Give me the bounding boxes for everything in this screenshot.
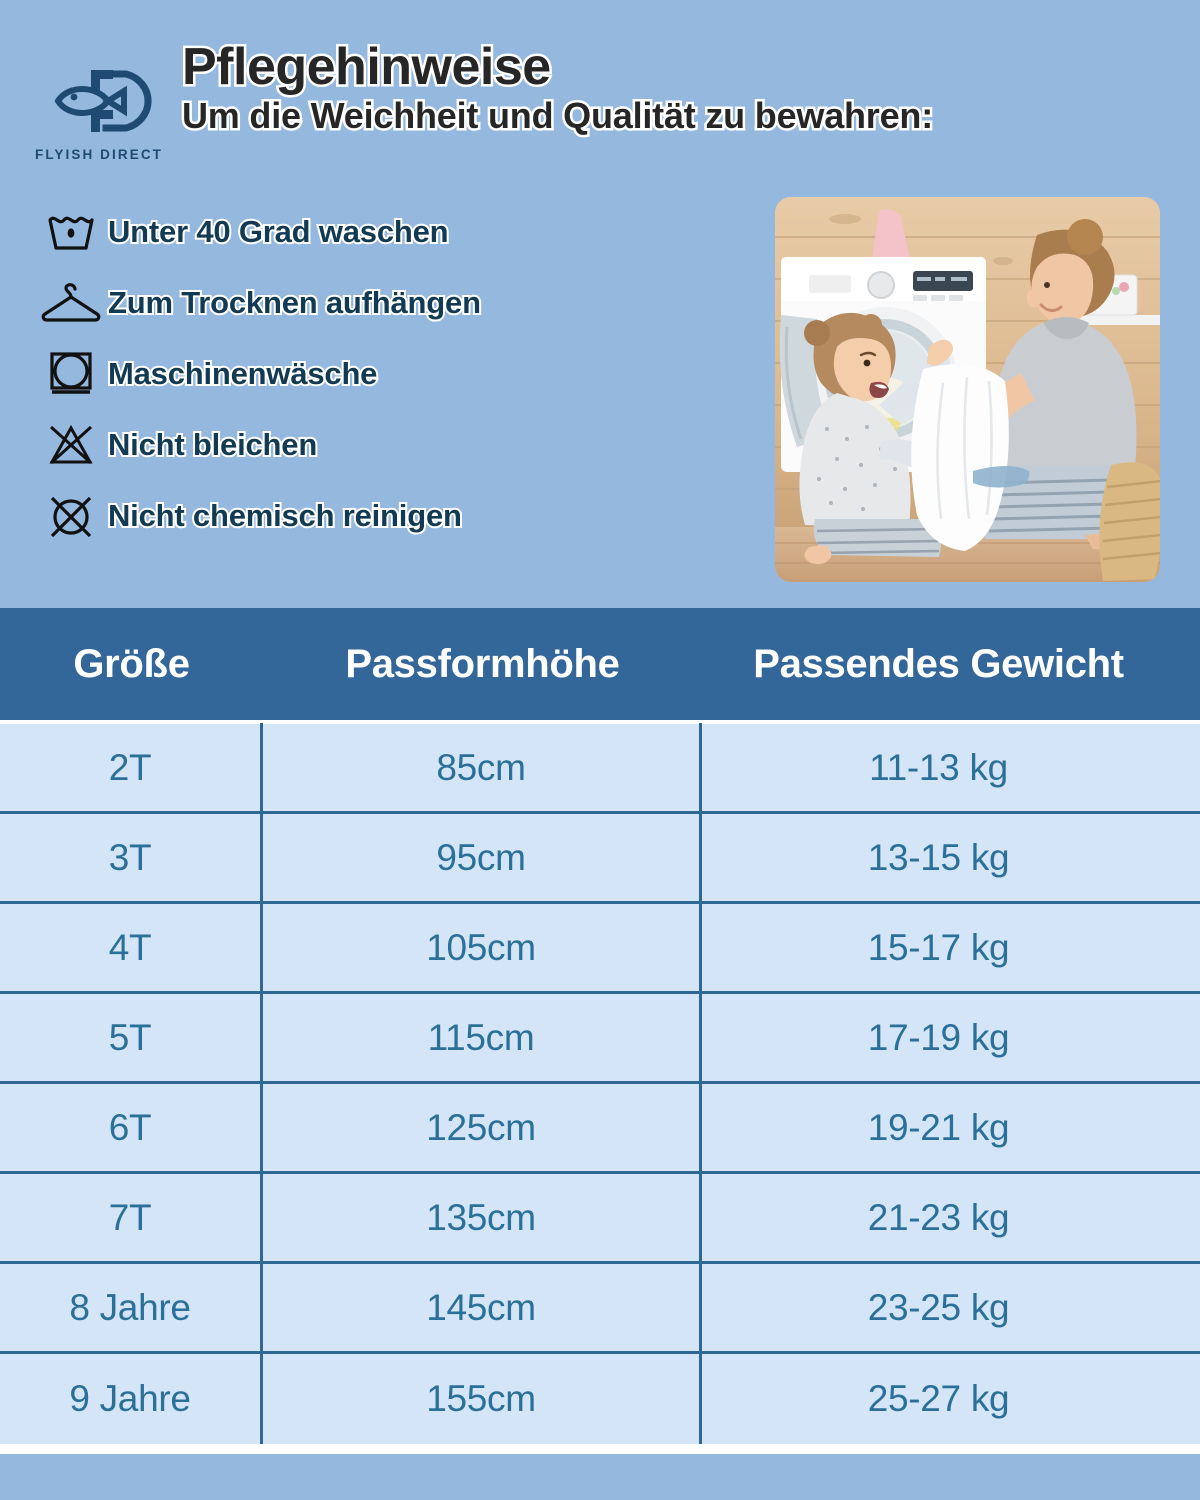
cell-size: 8 Jahre [0,1263,263,1353]
brand-logo: FLYISH DIRECT [24,64,174,162]
machine-wash-icon [34,349,108,399]
do-not-dry-clean-icon [34,491,108,541]
care-item-label: Maschinenwäsche [108,356,377,392]
page-title: Pflegehinweise [182,40,1192,94]
care-item-label: Nicht bleichen [108,427,317,463]
cell-weight: 11-13 kg [702,723,1175,813]
cell-size: 7T [0,1173,263,1263]
cell-size: 5T [0,993,263,1083]
care-instructions-section: FLYISH DIRECT Pflegehinweise Um die Weic… [0,0,1200,603]
cell-height: 115cm [263,993,702,1083]
table-body: 2T 85cm 11-13 kg 3T 95cm 13-15 kg 4T 105… [0,720,1200,1444]
table-header-row: Größe Passformhöhe Passendes Gewicht [0,608,1200,720]
table-row: 7T 135cm 21-23 kg [0,1174,1200,1264]
cell-size: 3T [0,813,263,903]
bottom-background-strip [0,1455,1200,1500]
size-chart-table: Größe Passformhöhe Passendes Gewicht 2T … [0,608,1200,1454]
cell-height: 125cm [263,1083,702,1173]
laundry-photo [775,197,1160,582]
table-row: 5T 115cm 17-19 kg [0,994,1200,1084]
table-bottom-gap [0,1444,1200,1454]
page-subtitle: Um die Weichheit und Qualität zu bewahre… [182,96,1192,136]
cell-weight: 13-15 kg [702,813,1175,903]
cell-height: 85cm [263,723,702,813]
cell-weight: 25-27 kg [702,1354,1175,1444]
cell-height: 105cm [263,903,702,993]
cell-weight: 23-25 kg [702,1263,1175,1353]
cell-size: 2T [0,723,263,813]
column-header-height: Passformhöhe [263,642,702,687]
cell-height: 135cm [263,1173,702,1263]
care-item: Maschinenwäsche [34,338,734,409]
page-header: FLYISH DIRECT Pflegehinweise Um die Weic… [0,0,1200,175]
cell-size: 6T [0,1083,263,1173]
brand-name: FLYISH DIRECT [24,147,174,162]
table-row: 3T 95cm 13-15 kg [0,814,1200,904]
column-header-weight: Passendes Gewicht [702,642,1175,687]
table-row: 6T 125cm 19-21 kg [0,1084,1200,1174]
cell-size: 9 Jahre [0,1354,263,1444]
table-row: 8 Jahre 145cm 23-25 kg [0,1264,1200,1354]
header-titles: Pflegehinweise Um die Weichheit und Qual… [182,40,1192,136]
cell-weight: 21-23 kg [702,1173,1175,1263]
care-item-label: Zum Trocknen aufhängen [108,285,481,321]
cell-height: 155cm [263,1354,702,1444]
fish-in-d-logo-icon [24,64,174,143]
table-row: 2T 85cm 11-13 kg [0,724,1200,814]
care-item: Unter 40 Grad waschen [34,196,734,267]
cell-height: 95cm [263,813,702,903]
hanger-drip-dry-icon [34,281,108,325]
care-item-label: Nicht chemisch reinigen [108,498,462,534]
cell-size: 4T [0,903,263,993]
column-header-size: Größe [0,642,263,687]
care-instruction-list: Unter 40 Grad waschen Zum Trocknen aufhä… [34,196,734,551]
do-not-bleach-icon [34,421,108,469]
care-item: Zum Trocknen aufhängen [34,267,734,338]
care-item-label: Unter 40 Grad waschen [108,214,448,250]
cell-weight: 17-19 kg [702,993,1175,1083]
cell-height: 145cm [263,1263,702,1353]
care-item: Nicht chemisch reinigen [34,480,734,551]
care-item: Nicht bleichen [34,409,734,480]
cell-weight: 15-17 kg [702,903,1175,993]
table-row: 4T 105cm 15-17 kg [0,904,1200,994]
wash-tub-40-icon [34,210,108,254]
cell-weight: 19-21 kg [702,1083,1175,1173]
table-row: 9 Jahre 155cm 25-27 kg [0,1354,1200,1444]
